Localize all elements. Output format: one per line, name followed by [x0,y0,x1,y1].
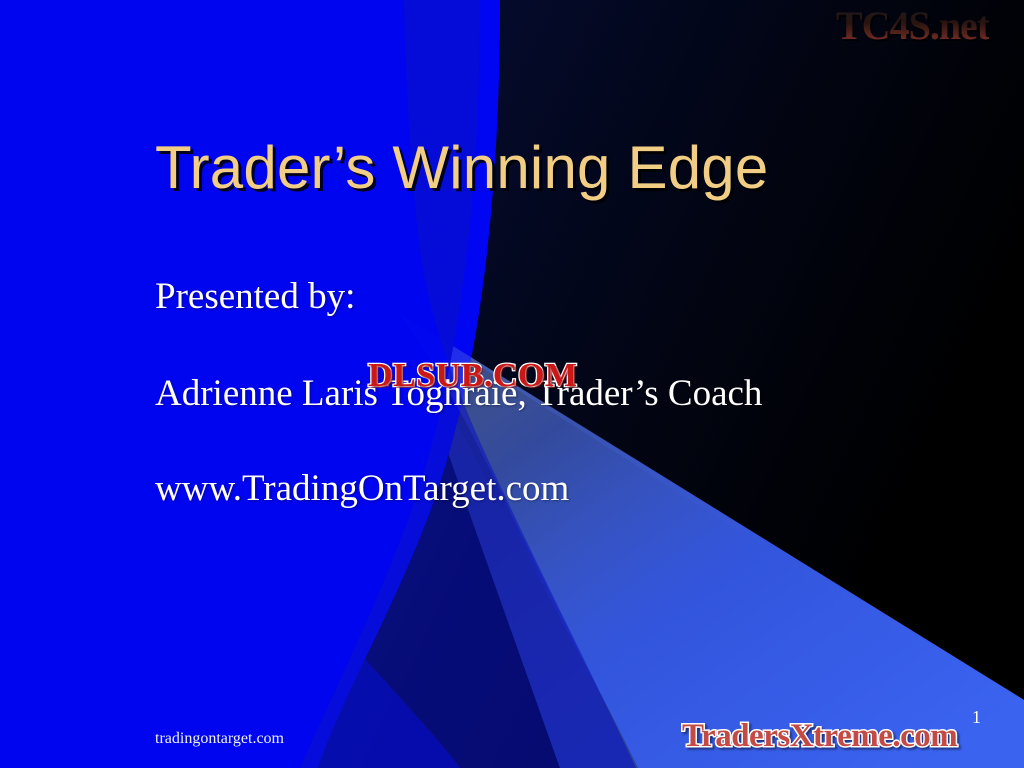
body-line-presented-by: Presented by: [155,278,975,315]
presentation-slide: Trader’s Winning Edge Presented by: Adri… [0,0,1024,768]
tc4s-watermark: TC4S.net [836,2,989,49]
tradersxtreme-watermark: TradersXtreme.com [682,718,957,755]
dlsub-watermark: DLSUB.COM [368,357,577,395]
slide-number: 1 [972,707,981,728]
body-line-website: www.TradingOnTarget.com [155,470,975,507]
body-spacer-2 [155,412,975,470]
slide-title: Trader’s Winning Edge [155,136,895,199]
footer-website-label: tradingontarget.com [155,730,284,748]
